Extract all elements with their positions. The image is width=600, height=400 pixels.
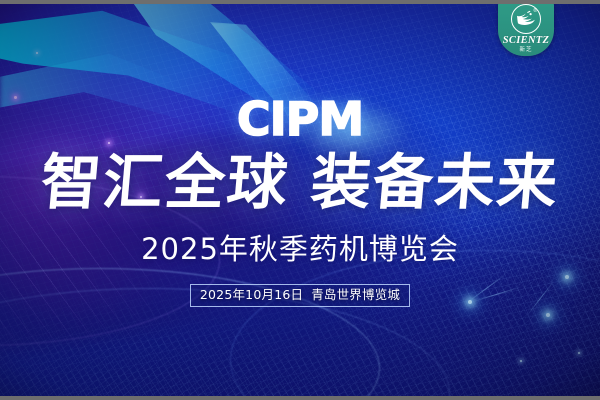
event-banner-image: ® SCIENTZ 新芝 CIPM 智汇全球装备未来 2025年秋季药机博览会 … [0, 0, 600, 400]
event-date: 2025年10月16日 [200, 287, 303, 303]
event-subtitle: 2025年秋季药机博览会 [0, 235, 600, 264]
headline-slogan: 智汇全球装备未来 [0, 152, 600, 215]
scientz-chinese-mark: 新芝 [519, 48, 532, 54]
scientz-wordmark: SCIENTZ [503, 36, 549, 47]
letterbox-bar-bottom [0, 396, 600, 400]
scientz-logo-badge[interactable]: ® SCIENTZ 新芝 [498, 2, 554, 56]
registered-trademark-icon: ® [533, 9, 537, 14]
banner-content: CIPM 智汇全球装备未来 2025年秋季药机博览会 2025年10月16日 青… [0, 0, 600, 400]
scientz-swan-emblem-icon: ® [511, 4, 541, 34]
letterbox-bar-top [0, 0, 600, 4]
cipm-logo-text: CIPM [0, 96, 600, 142]
headline-part-1: 智汇全球 [38, 148, 292, 218]
headline-part-2: 装备未来 [308, 148, 562, 218]
event-venue: 青岛世界博览城 [311, 287, 400, 303]
date-venue-bar: 2025年10月16日 青岛世界博览城 [190, 284, 410, 307]
date-venue-bar-wrap: 2025年10月16日 青岛世界博览城 [0, 284, 600, 307]
